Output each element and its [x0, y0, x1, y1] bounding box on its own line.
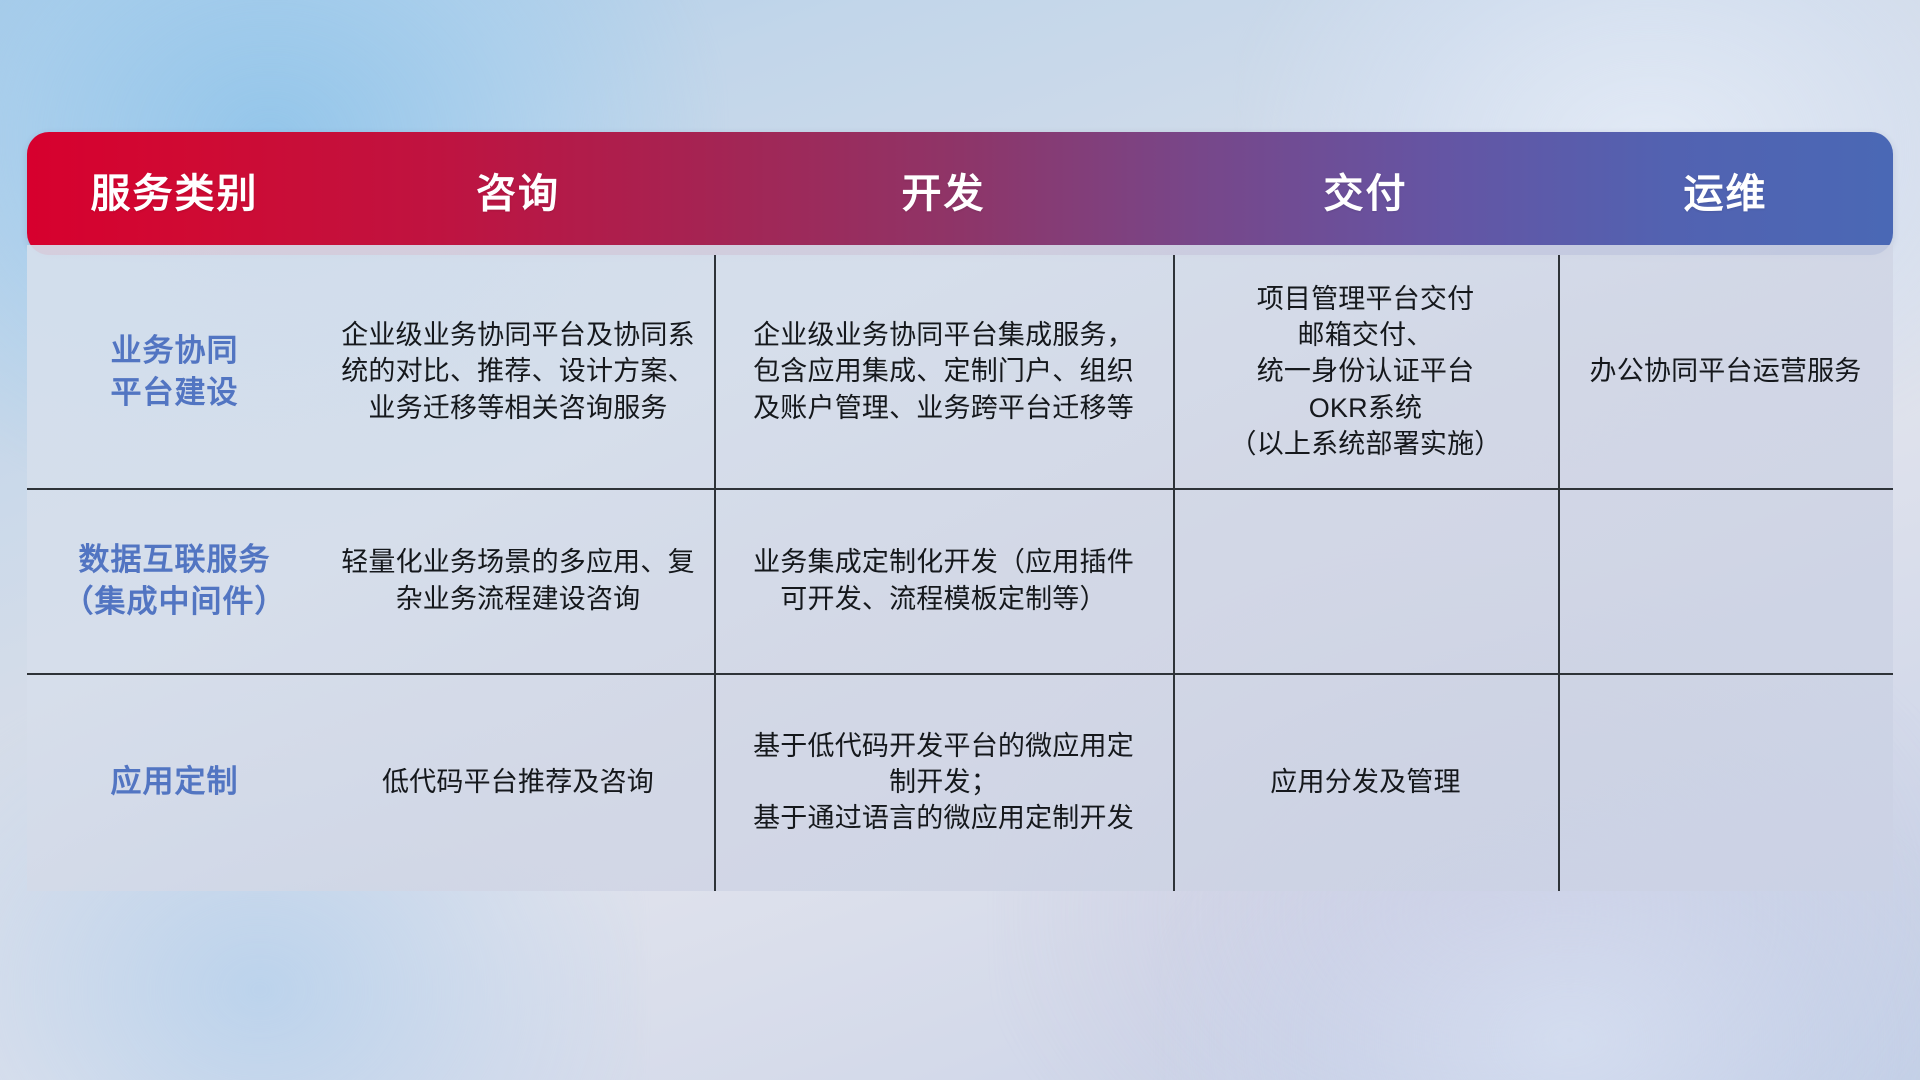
table-header-row: 服务类别 咨询 开发 交付 运维 — [27, 132, 1893, 255]
table-row: 业务协同 平台建设 企业级业务协同平台及协同系 统的对比、推荐、设计方案、 业务… — [27, 255, 1893, 488]
cell-operations-row-1 — [1558, 488, 1893, 673]
table-body: 业务协同 平台建设 企业级业务协同平台及协同系 统的对比、推荐、设计方案、 业务… — [27, 245, 1893, 891]
column-header-delivery: 交付 — [1173, 174, 1558, 214]
row-divider-2 — [27, 673, 1893, 675]
cell-delivery-row-2: 应用分发及管理 — [1173, 673, 1558, 891]
row-label-app-customization: 应用定制 — [27, 673, 322, 891]
cell-development-row-1: 业务集成定制化开发（应用插件 可开发、流程模板定制等） — [714, 488, 1173, 673]
cell-consulting-row-1: 轻量化业务场景的多应用、复 杂业务流程建设咨询 — [322, 488, 714, 673]
column-divider-1 — [714, 255, 716, 891]
cell-operations-row-0: 办公协同平台运营服务 — [1558, 255, 1893, 488]
column-header-development: 开发 — [714, 174, 1173, 214]
cell-consulting-row-2: 低代码平台推荐及咨询 — [322, 673, 714, 891]
cell-development-row-2: 基于低代码开发平台的微应用定 制开发； 基于通过语言的微应用定制开发 — [714, 673, 1173, 891]
table-row: 数据互联服务 （集成中间件） 轻量化业务场景的多应用、复 杂业务流程建设咨询 业… — [27, 488, 1893, 673]
service-category-table: 服务类别 咨询 开发 交付 运维 业务协同 平台建设 企业级业务协同平台及协同系… — [27, 132, 1893, 891]
column-header-consulting: 咨询 — [322, 174, 714, 214]
cell-delivery-row-0: 项目管理平台交付 邮箱交付、 统一身份认证平台 OKR系统 （以上系统部署实施） — [1173, 255, 1558, 488]
column-header-operations: 运维 — [1558, 174, 1893, 214]
column-header-category: 服务类别 — [27, 174, 322, 214]
cell-delivery-row-1 — [1173, 488, 1558, 673]
column-divider-2 — [1173, 255, 1175, 891]
column-divider-3 — [1558, 255, 1560, 891]
row-label-business-collaboration: 业务协同 平台建设 — [27, 255, 322, 488]
cell-consulting-row-0: 企业级业务协同平台及协同系 统的对比、推荐、设计方案、 业务迁移等相关咨询服务 — [322, 255, 714, 488]
table-row: 应用定制 低代码平台推荐及咨询 基于低代码开发平台的微应用定 制开发； 基于通过… — [27, 673, 1893, 891]
cell-development-row-0: 企业级业务协同平台集成服务， 包含应用集成、定制门户、组织 及账户管理、业务跨平… — [714, 255, 1173, 488]
cell-operations-row-2 — [1558, 673, 1893, 891]
row-divider-1 — [27, 488, 1893, 490]
row-label-data-interconnect: 数据互联服务 （集成中间件） — [27, 488, 322, 673]
